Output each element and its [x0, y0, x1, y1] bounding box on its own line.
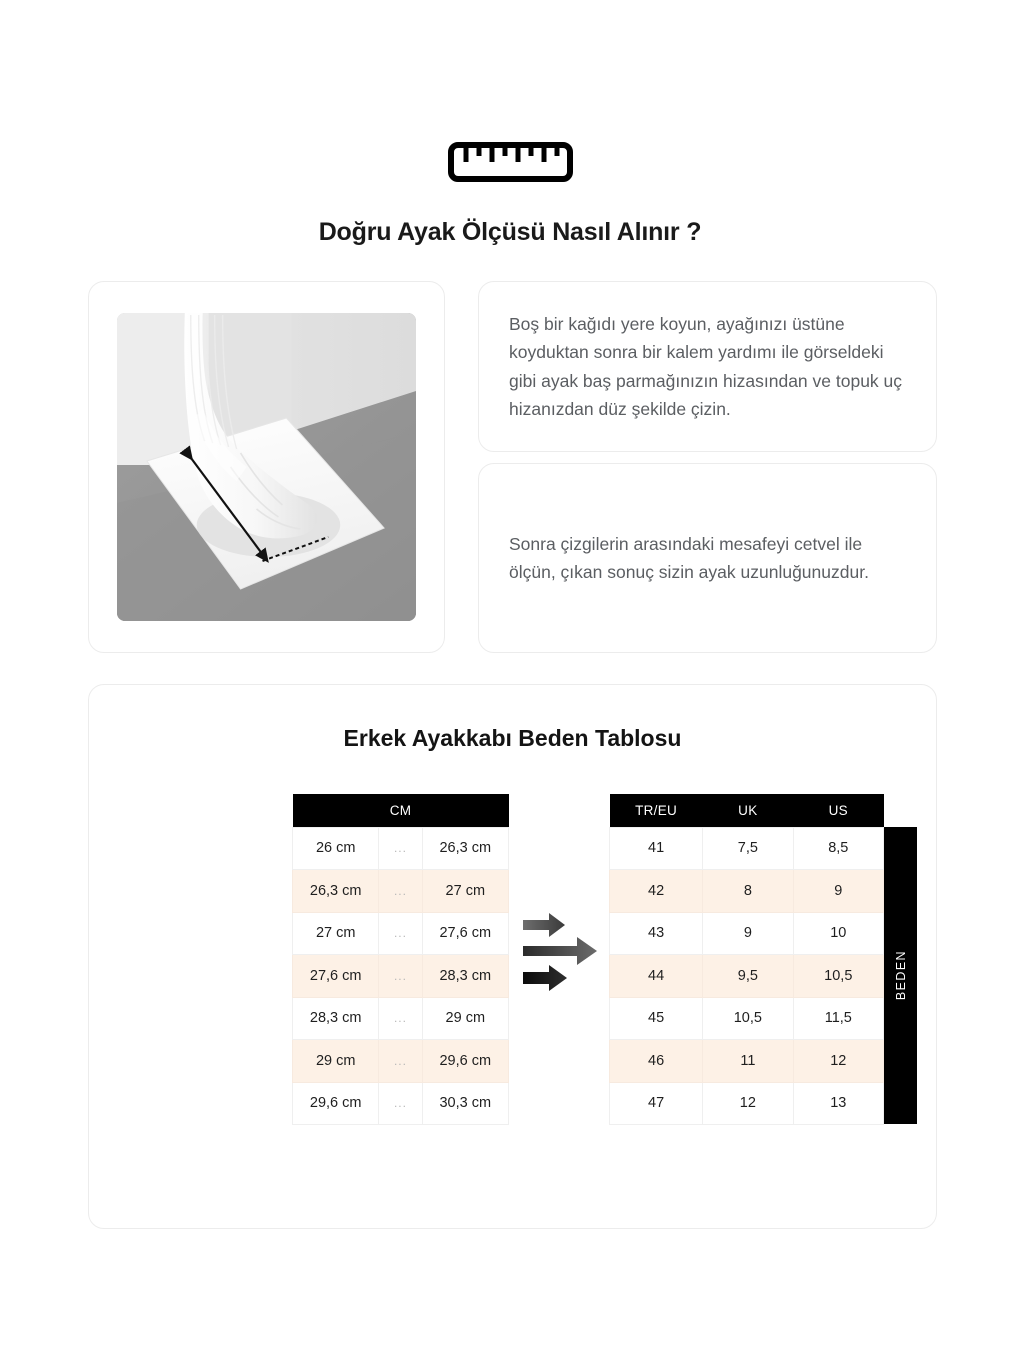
cm-to: 28,3 cm: [422, 955, 508, 998]
table-row: 45 10,5 11,5: [610, 997, 884, 1040]
size-table-title: Erkek Ayakkabı Beden Tablosu: [89, 725, 936, 752]
foot-photo-card: [88, 281, 445, 653]
size-uk: 11: [703, 1040, 793, 1083]
cm-from: 28,3 cm: [293, 997, 379, 1040]
ruler-icon: [448, 142, 573, 182]
cm-table-header-row: CM: [293, 794, 509, 827]
cm-to: 27 cm: [422, 870, 508, 913]
size-us: 10: [793, 912, 883, 955]
size-us: 12: [793, 1040, 883, 1083]
cm-separator: ...: [379, 870, 422, 913]
table-row: 46 11 12: [610, 1040, 884, 1083]
size-uk: 7,5: [703, 827, 793, 870]
cm-from: 26 cm: [293, 827, 379, 870]
size-treu: 41: [610, 827, 703, 870]
size-treu: 44: [610, 955, 703, 998]
table-row: 44 9,5 10,5: [610, 955, 884, 998]
size-uk: 10,5: [703, 997, 793, 1040]
cm-separator: ...: [379, 955, 422, 998]
cm-from: 29 cm: [293, 1040, 379, 1083]
foot-on-paper-photo: [117, 313, 416, 621]
size-treu: 42: [610, 870, 703, 913]
cm-to: 27,6 cm: [422, 912, 508, 955]
cm-from: 26,3 cm: [293, 870, 379, 913]
size-uk: 9: [703, 912, 793, 955]
table-row: 28,3 cm ... 29 cm: [293, 997, 509, 1040]
instruction-card-2: Sonra çizgilerin arasındaki mesafeyi cet…: [478, 463, 937, 653]
size-header-uk: UK: [703, 794, 793, 827]
cm-separator: ...: [379, 997, 422, 1040]
size-header-us: US: [793, 794, 883, 827]
table-row: 43 9 10: [610, 912, 884, 955]
cm-to: 30,3 cm: [422, 1082, 508, 1125]
cm-measurement-table: CM 26 cm ... 26,3 cm 26,3 cm ... 27 cm: [292, 794, 509, 1125]
size-table-card: Erkek Ayakkabı Beden Tablosu CM 26 cm ..…: [88, 684, 937, 1229]
cm-header-cell: CM: [293, 794, 509, 827]
beden-vertical-label: BEDEN: [884, 827, 917, 1124]
size-treu: 43: [610, 912, 703, 955]
shoe-size-table: TR/EU UK US 41 7,5 8,5 42 8 9: [609, 794, 884, 1125]
instruction-card-1: Boş bir kağıdı yere koyun, ayağınızı üst…: [478, 281, 937, 452]
size-table-header-row: TR/EU UK US: [610, 794, 884, 827]
size-uk: 12: [703, 1082, 793, 1125]
table-row: 29,6 cm ... 30,3 cm: [293, 1082, 509, 1125]
cm-to: 29,6 cm: [422, 1040, 508, 1083]
size-guide-page: Doğru Ayak Ölçüsü Nasıl Alınır ?: [0, 0, 1020, 1360]
cm-from: 27 cm: [293, 912, 379, 955]
triple-arrow-right-icon-container: [521, 906, 613, 996]
table-row: 27,6 cm ... 28,3 cm: [293, 955, 509, 998]
page-title: Doğru Ayak Ölçüsü Nasıl Alınır ?: [0, 218, 1020, 247]
cm-separator: ...: [379, 1040, 422, 1083]
size-us: 9: [793, 870, 883, 913]
size-treu: 45: [610, 997, 703, 1040]
size-header-treu: TR/EU: [610, 794, 703, 827]
ruler-icon-container: [0, 142, 1020, 182]
size-tables-wrap: CM 26 cm ... 26,3 cm 26,3 cm ... 27 cm: [89, 794, 938, 1134]
size-us: 13: [793, 1082, 883, 1125]
table-row: 26,3 cm ... 27 cm: [293, 870, 509, 913]
cm-from: 29,6 cm: [293, 1082, 379, 1125]
size-treu: 46: [610, 1040, 703, 1083]
size-uk: 9,5: [703, 955, 793, 998]
cm-to: 26,3 cm: [422, 827, 508, 870]
table-row: 47 12 13: [610, 1082, 884, 1125]
cm-separator: ...: [379, 827, 422, 870]
cm-separator: ...: [379, 1082, 422, 1125]
instruction-text-2: Sonra çizgilerin arasındaki mesafeyi cet…: [479, 530, 936, 587]
size-uk: 8: [703, 870, 793, 913]
table-row: 41 7,5 8,5: [610, 827, 884, 870]
instruction-text-1: Boş bir kağıdı yere koyun, ayağınızı üst…: [479, 310, 936, 423]
size-table-body: 41 7,5 8,5 42 8 9 43 9 10: [610, 827, 884, 1125]
table-row: 42 8 9: [610, 870, 884, 913]
size-treu: 47: [610, 1082, 703, 1125]
foot-photo-frame: [117, 313, 416, 621]
cm-to: 29 cm: [422, 997, 508, 1040]
cm-separator: ...: [379, 912, 422, 955]
size-us: 11,5: [793, 997, 883, 1040]
table-row: 29 cm ... 29,6 cm: [293, 1040, 509, 1083]
table-row: 27 cm ... 27,6 cm: [293, 912, 509, 955]
table-row: 26 cm ... 26,3 cm: [293, 827, 509, 870]
size-us: 10,5: [793, 955, 883, 998]
cm-table-body: 26 cm ... 26,3 cm 26,3 cm ... 27 cm 27 c…: [293, 827, 509, 1125]
triple-arrow-right-icon: [521, 906, 613, 996]
beden-label-text: BEDEN: [894, 950, 908, 1000]
cm-from: 27,6 cm: [293, 955, 379, 998]
size-us: 8,5: [793, 827, 883, 870]
